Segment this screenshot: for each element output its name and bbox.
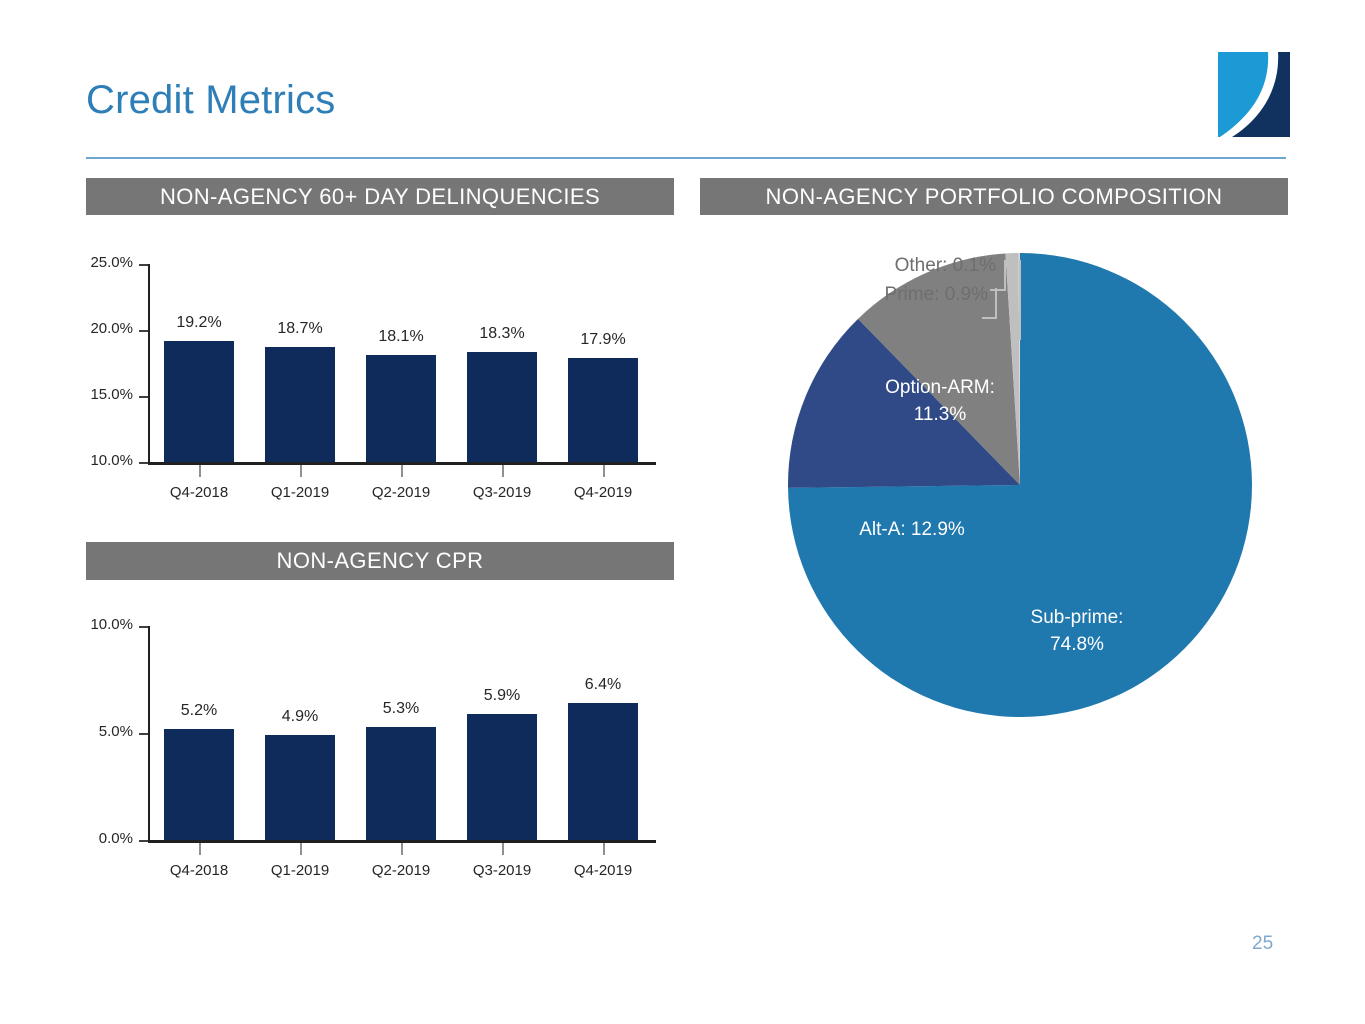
x-axis-tick (199, 465, 201, 477)
bar (164, 729, 234, 840)
page-title: Credit Metrics (86, 78, 336, 123)
y-axis-tick-label: 10.0% (69, 452, 133, 469)
x-axis-tick-label: Q1-2019 (245, 862, 355, 879)
section-banner-portfolio-composition: NON-AGENCY PORTFOLIO COMPOSITION (700, 178, 1288, 215)
bar (467, 714, 537, 840)
bar-value-label: 5.3% (356, 700, 446, 718)
bar-value-label: 18.3% (457, 325, 547, 343)
x-axis-tick-label: Q3-2019 (447, 484, 557, 501)
y-axis-tick-label: 25.0% (69, 254, 133, 271)
y-axis-tick (139, 396, 148, 398)
x-axis-tick (603, 465, 605, 477)
bar-value-label: 19.2% (154, 314, 244, 332)
chart-portfolio-composition: Other: 0.1% Prime: 0.9% Option-ARM: 11.3… (700, 240, 1288, 820)
y-axis-tick (139, 462, 148, 464)
x-axis-tick (300, 465, 302, 477)
section-banner-cpr: NON-AGENCY CPR (86, 542, 674, 580)
x-axis-tick-label: Q4-2018 (144, 484, 254, 501)
x-axis-tick (603, 843, 605, 855)
pie-label-subprime-line2: 74.8% (1050, 634, 1104, 655)
bar-value-label: 4.9% (255, 708, 345, 726)
bar (568, 358, 638, 462)
page-number: 25 (1252, 933, 1273, 955)
y-axis-tick-label: 15.0% (69, 386, 133, 403)
company-logo (1218, 52, 1290, 137)
pie-label-option-arm-line1: Option-ARM: (885, 377, 995, 398)
x-axis-tick (502, 843, 504, 855)
pie-label-option-arm-line2: 11.3% (914, 404, 967, 425)
bar-value-label: 5.9% (457, 687, 547, 705)
y-axis-tick-label: 0.0% (69, 830, 133, 847)
pie-label-alt-a: Alt-A: 12.9% (859, 519, 965, 540)
x-axis-tick-label: Q2-2019 (346, 484, 456, 501)
bar-value-label: 18.1% (356, 328, 446, 346)
chart-delinquencies: 10.0%15.0%20.0%25.0%19.2%Q4-201818.7%Q1-… (86, 250, 676, 510)
y-axis-line (148, 626, 150, 842)
x-axis-tick-label: Q2-2019 (346, 862, 456, 879)
x-axis-tick (199, 843, 201, 855)
y-axis-tick-label: 5.0% (69, 723, 133, 740)
logo-mark-icon (1218, 52, 1290, 137)
y-axis-tick (139, 626, 148, 628)
x-axis-tick (502, 465, 504, 477)
bar (467, 352, 537, 462)
title-divider (86, 157, 1286, 159)
bar (568, 703, 638, 840)
pie-label-prime: Prime: 0.9% (885, 284, 989, 305)
y-axis-tick-label: 20.0% (69, 320, 133, 337)
bar (265, 735, 335, 840)
bar-value-label: 18.7% (255, 320, 345, 338)
bar (366, 355, 436, 462)
x-axis-tick (401, 843, 403, 855)
y-axis-tick (139, 840, 148, 842)
bar (164, 341, 234, 462)
x-axis-tick-label: Q1-2019 (245, 484, 355, 501)
y-axis-line (148, 264, 150, 464)
bar-value-label: 5.2% (154, 702, 244, 720)
section-banner-delinquencies: NON-AGENCY 60+ DAY DELINQUENCIES (86, 178, 674, 215)
bar-value-label: 17.9% (558, 331, 648, 349)
x-axis-tick-label: Q4-2018 (144, 862, 254, 879)
x-axis-tick-label: Q4-2019 (548, 484, 658, 501)
x-axis-tick (300, 843, 302, 855)
x-axis-tick-label: Q3-2019 (447, 862, 557, 879)
pie-label-subprime-line1: Sub-prime: (1031, 607, 1124, 628)
y-axis-tick (139, 264, 148, 266)
pie-label-other: Other: 0.1% (895, 255, 996, 276)
y-axis-tick (139, 330, 148, 332)
y-axis-tick-label: 10.0% (69, 616, 133, 633)
x-axis-tick (401, 465, 403, 477)
chart-cpr: 0.0%5.0%10.0%5.2%Q4-20184.9%Q1-20195.3%Q… (86, 612, 676, 892)
bar (366, 727, 436, 840)
bar (265, 347, 335, 462)
x-axis-tick-label: Q4-2019 (548, 862, 658, 879)
y-axis-tick (139, 733, 148, 735)
bar-value-label: 6.4% (558, 676, 648, 694)
